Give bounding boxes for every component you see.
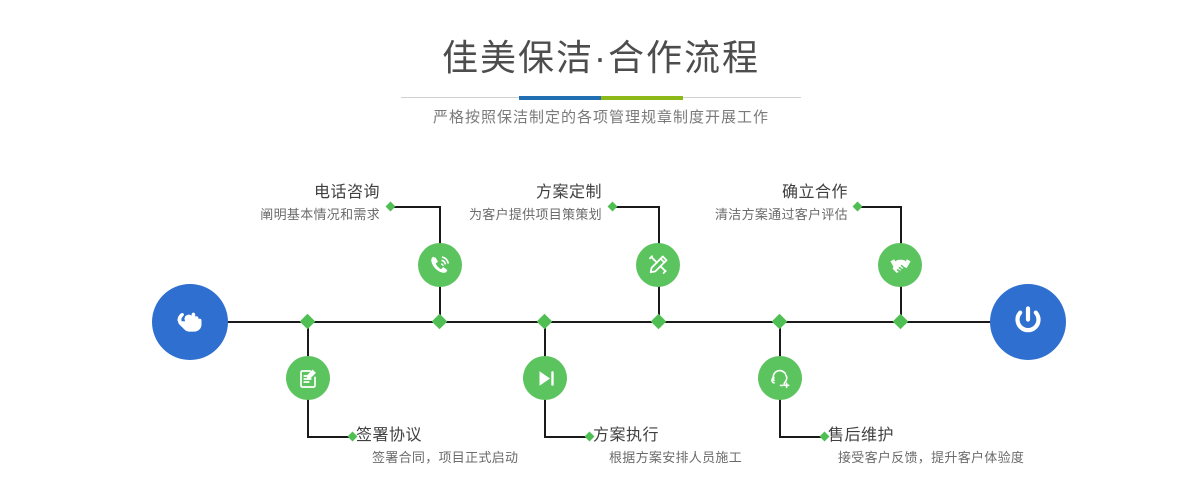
headset-support-icon bbox=[768, 366, 793, 391]
axis-marker-4 bbox=[537, 314, 553, 330]
axis-marker-6 bbox=[893, 314, 909, 330]
step-label-6: 确立合作 清洁方案通过客户评估 bbox=[540, 182, 848, 226]
hand-pointer-icon bbox=[170, 302, 210, 342]
label-marker-6 bbox=[853, 202, 863, 212]
connector-elbow-2 bbox=[307, 436, 352, 438]
phone-call-icon bbox=[427, 252, 453, 278]
process-timeline: 电话咨询 阐明基本情况和需求 bbox=[0, 140, 1202, 502]
step-icon-3[interactable] bbox=[636, 243, 680, 287]
page-subtitle: 严格按照保洁制定的各项管理规章制度开展工作 bbox=[0, 106, 1202, 130]
cooperation-flow-infographic: 佳美保洁·合作流程 严格按照保洁制定的各项管理规章制度开展工作 bbox=[0, 0, 1202, 502]
play-to-end-icon bbox=[533, 366, 558, 391]
divider-segment-blue bbox=[519, 96, 601, 100]
step-title-6: 确立合作 bbox=[540, 182, 848, 204]
step-icon-5[interactable] bbox=[758, 356, 802, 400]
title-divider bbox=[401, 96, 801, 100]
axis-marker-2 bbox=[300, 314, 316, 330]
header: 佳美保洁·合作流程 严格按照保洁制定的各项管理规章制度开展工作 bbox=[0, 0, 1202, 140]
axis-marker-3 bbox=[651, 314, 667, 330]
step-title-5: 售后维护 bbox=[828, 425, 1168, 447]
connector-elbow-6 bbox=[857, 206, 901, 208]
axis-marker-5 bbox=[772, 314, 788, 330]
handshake-icon bbox=[887, 252, 914, 279]
power-icon bbox=[1007, 301, 1049, 343]
pencil-ruler-icon bbox=[645, 252, 671, 278]
step-icon-1[interactable] bbox=[418, 243, 462, 287]
step-desc-5: 接受客户反馈，提升客户体验度 bbox=[838, 447, 1168, 469]
page-title: 佳美保洁·合作流程 bbox=[0, 36, 1202, 80]
timeline-end-node[interactable] bbox=[990, 284, 1066, 360]
document-edit-icon bbox=[296, 366, 321, 391]
timeline-start-node[interactable] bbox=[152, 284, 228, 360]
step-icon-6[interactable] bbox=[878, 243, 922, 287]
step-icon-2[interactable] bbox=[286, 356, 330, 400]
step-icon-4[interactable] bbox=[523, 356, 567, 400]
axis-marker-1 bbox=[432, 314, 448, 330]
step-label-5: 售后维护 接受客户反馈，提升客户体验度 bbox=[828, 425, 1168, 469]
divider-segment-green bbox=[601, 96, 683, 100]
step-desc-6: 清洁方案通过客户评估 bbox=[540, 204, 848, 226]
